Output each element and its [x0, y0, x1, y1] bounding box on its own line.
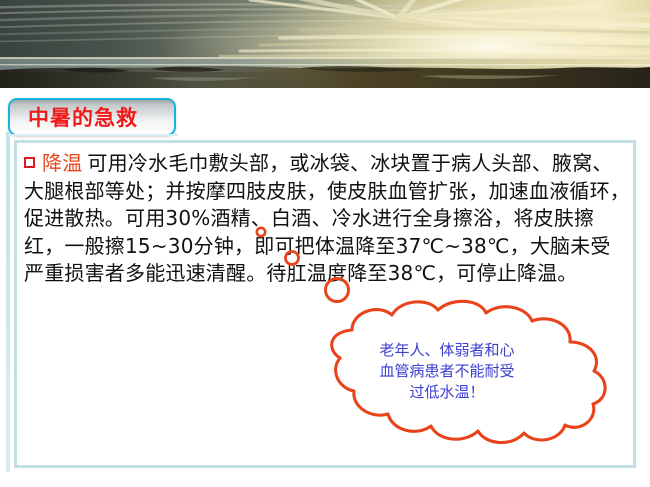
body-paragraph: 降温可用冷水毛巾敷头部，或冰袋、冰块置于病人头部、腋窝、大腿根部等处；并按摩四肢…: [24, 150, 630, 288]
left-accent-bar: [6, 132, 10, 472]
callout-line-2: 血管病患者不能耐受: [352, 361, 542, 382]
body-paragraph-text: 可用冷水毛巾敷头部，或冰袋、冰块置于病人头部、腋窝、大腿根部等处；并按摩四肢皮肤…: [24, 151, 630, 285]
slide-title-plaque: 中暑的急救: [8, 98, 176, 136]
callout-line-1: 老年人、体弱者和心: [352, 340, 542, 361]
callout-text: 老年人、体弱者和心 血管病患者不能耐受 过低水温！: [352, 340, 542, 403]
callout-line-3: 过低水温！: [352, 382, 542, 403]
page-title: 中暑的急救: [28, 102, 138, 132]
banner-artwork: [0, 0, 650, 88]
slide-canvas: 中暑的急救 降温可用冷水毛巾敷头部，或冰袋、冰块置于病人头部、腋窝、大腿根部等处…: [0, 0, 650, 487]
banner-image: [0, 0, 650, 88]
top-hairline: [8, 134, 178, 136]
body-keyword: 降温: [42, 151, 82, 175]
square-bullet-icon: [24, 157, 35, 168]
